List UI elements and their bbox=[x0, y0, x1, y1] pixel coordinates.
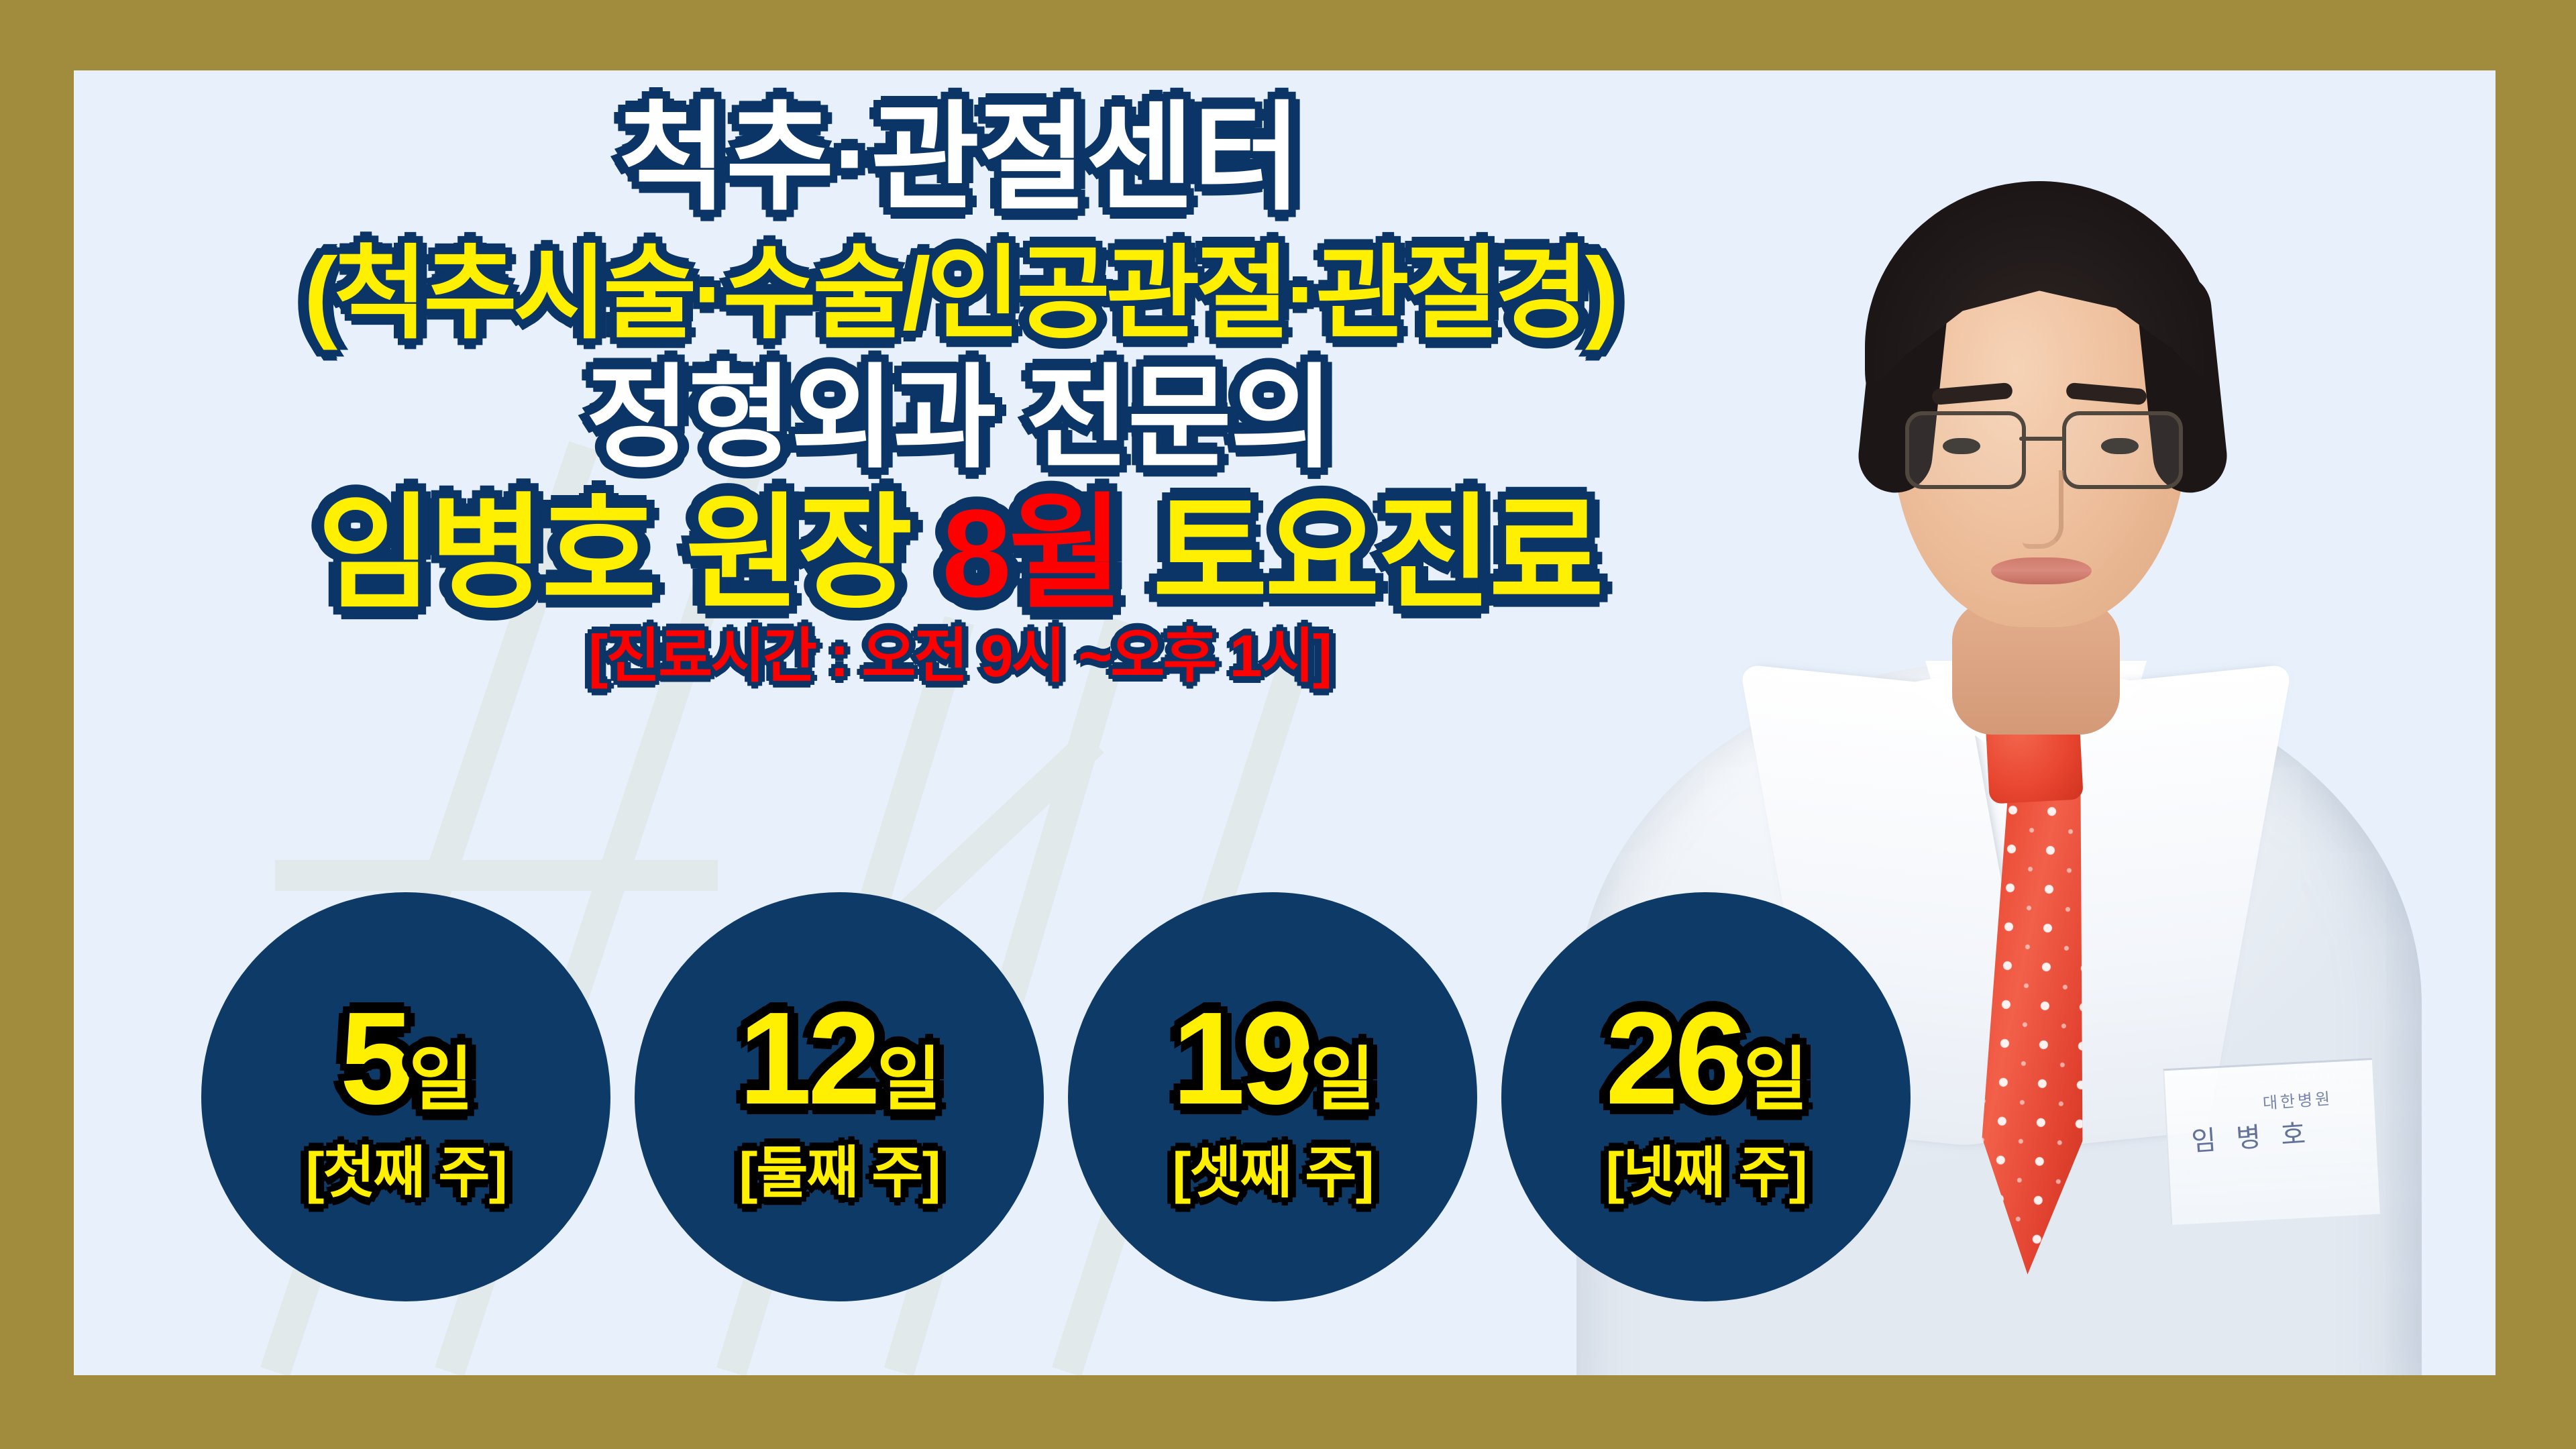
day-value-4: 26 bbox=[1605, 985, 1743, 1132]
date-circle-3[interactable]: 19일 [셋째 주] bbox=[1068, 892, 1477, 1301]
embroidery-name: 임 병 호 bbox=[2190, 1118, 2313, 1157]
week-label-2: [둘째 주] bbox=[739, 1144, 939, 1201]
banner-panel: 대한병원 임 병 호 척추·관절센터 bbox=[74, 70, 2495, 1375]
date-number-1: 5일 bbox=[340, 993, 472, 1124]
specialty-title: 정형외과 전문의 bbox=[74, 361, 1845, 476]
eyeglass-lens-left bbox=[1905, 411, 2026, 489]
center-subtitle: (척추시술·수술/인공관절·관절경) bbox=[74, 242, 1845, 346]
headline-block: 척추·관절센터 (척추시술·수술/인공관절·관절경) 정형외과 전문의 임병호 … bbox=[74, 99, 1845, 686]
eyeglass-bridge bbox=[2019, 437, 2063, 441]
clinic-hours: [진료시간 : 오전 9시 ~오후 1시] bbox=[74, 626, 1845, 686]
date-number-2: 12일 bbox=[739, 993, 940, 1124]
nose bbox=[2023, 470, 2063, 549]
center-title: 척추·관절센터 bbox=[74, 99, 1845, 219]
promo-banner: 대한병원 임 병 호 척추·관절센터 bbox=[0, 0, 2576, 1449]
day-suffix-4: 일 bbox=[1743, 1041, 1807, 1119]
week-label-1: [첫째 주] bbox=[305, 1144, 506, 1201]
day-value-3: 19 bbox=[1172, 985, 1310, 1132]
mouth bbox=[1991, 557, 2092, 584]
date-number-3: 19일 bbox=[1172, 993, 1373, 1124]
embroidery-hospital: 대한병원 bbox=[2262, 1085, 2334, 1114]
date-circle-1[interactable]: 5일 [첫째 주] bbox=[201, 892, 610, 1301]
doctor-schedule-title: 임병호 원장 8월 토요진료 bbox=[74, 490, 1845, 618]
week-label-3: [셋째 주] bbox=[1172, 1144, 1373, 1201]
eyeglass-lens-right bbox=[2062, 411, 2183, 489]
week-label-4: [넷째 주] bbox=[1605, 1144, 1806, 1201]
day-value-2: 12 bbox=[739, 985, 877, 1132]
banner-content: 척추·관절센터 (척추시술·수술/인공관절·관절경) 정형외과 전문의 임병호 … bbox=[74, 70, 1898, 1375]
date-circle-4[interactable]: 26일 [넷째 주] bbox=[1501, 892, 1911, 1301]
day-suffix-3: 일 bbox=[1310, 1041, 1373, 1119]
day-suffix-2: 일 bbox=[877, 1041, 940, 1119]
month-highlight: 8월 bbox=[942, 484, 1121, 623]
coat-embroidery: 대한병원 임 병 호 bbox=[2188, 1085, 2336, 1159]
doctor-name-role: 임병호 원장 bbox=[317, 484, 942, 623]
date-circle-2[interactable]: 12일 [둘째 주] bbox=[635, 892, 1044, 1301]
date-number-4: 26일 bbox=[1605, 993, 1807, 1124]
day-value-1: 5 bbox=[340, 985, 409, 1132]
saturday-clinic-label: 토요진료 bbox=[1121, 484, 1601, 623]
day-suffix-1: 일 bbox=[409, 1041, 472, 1119]
date-circle-list: 5일 [첫째 주] 12일 [둘째 주] 19일 [셋째 주] 26일 [넷째 … bbox=[201, 892, 1911, 1301]
